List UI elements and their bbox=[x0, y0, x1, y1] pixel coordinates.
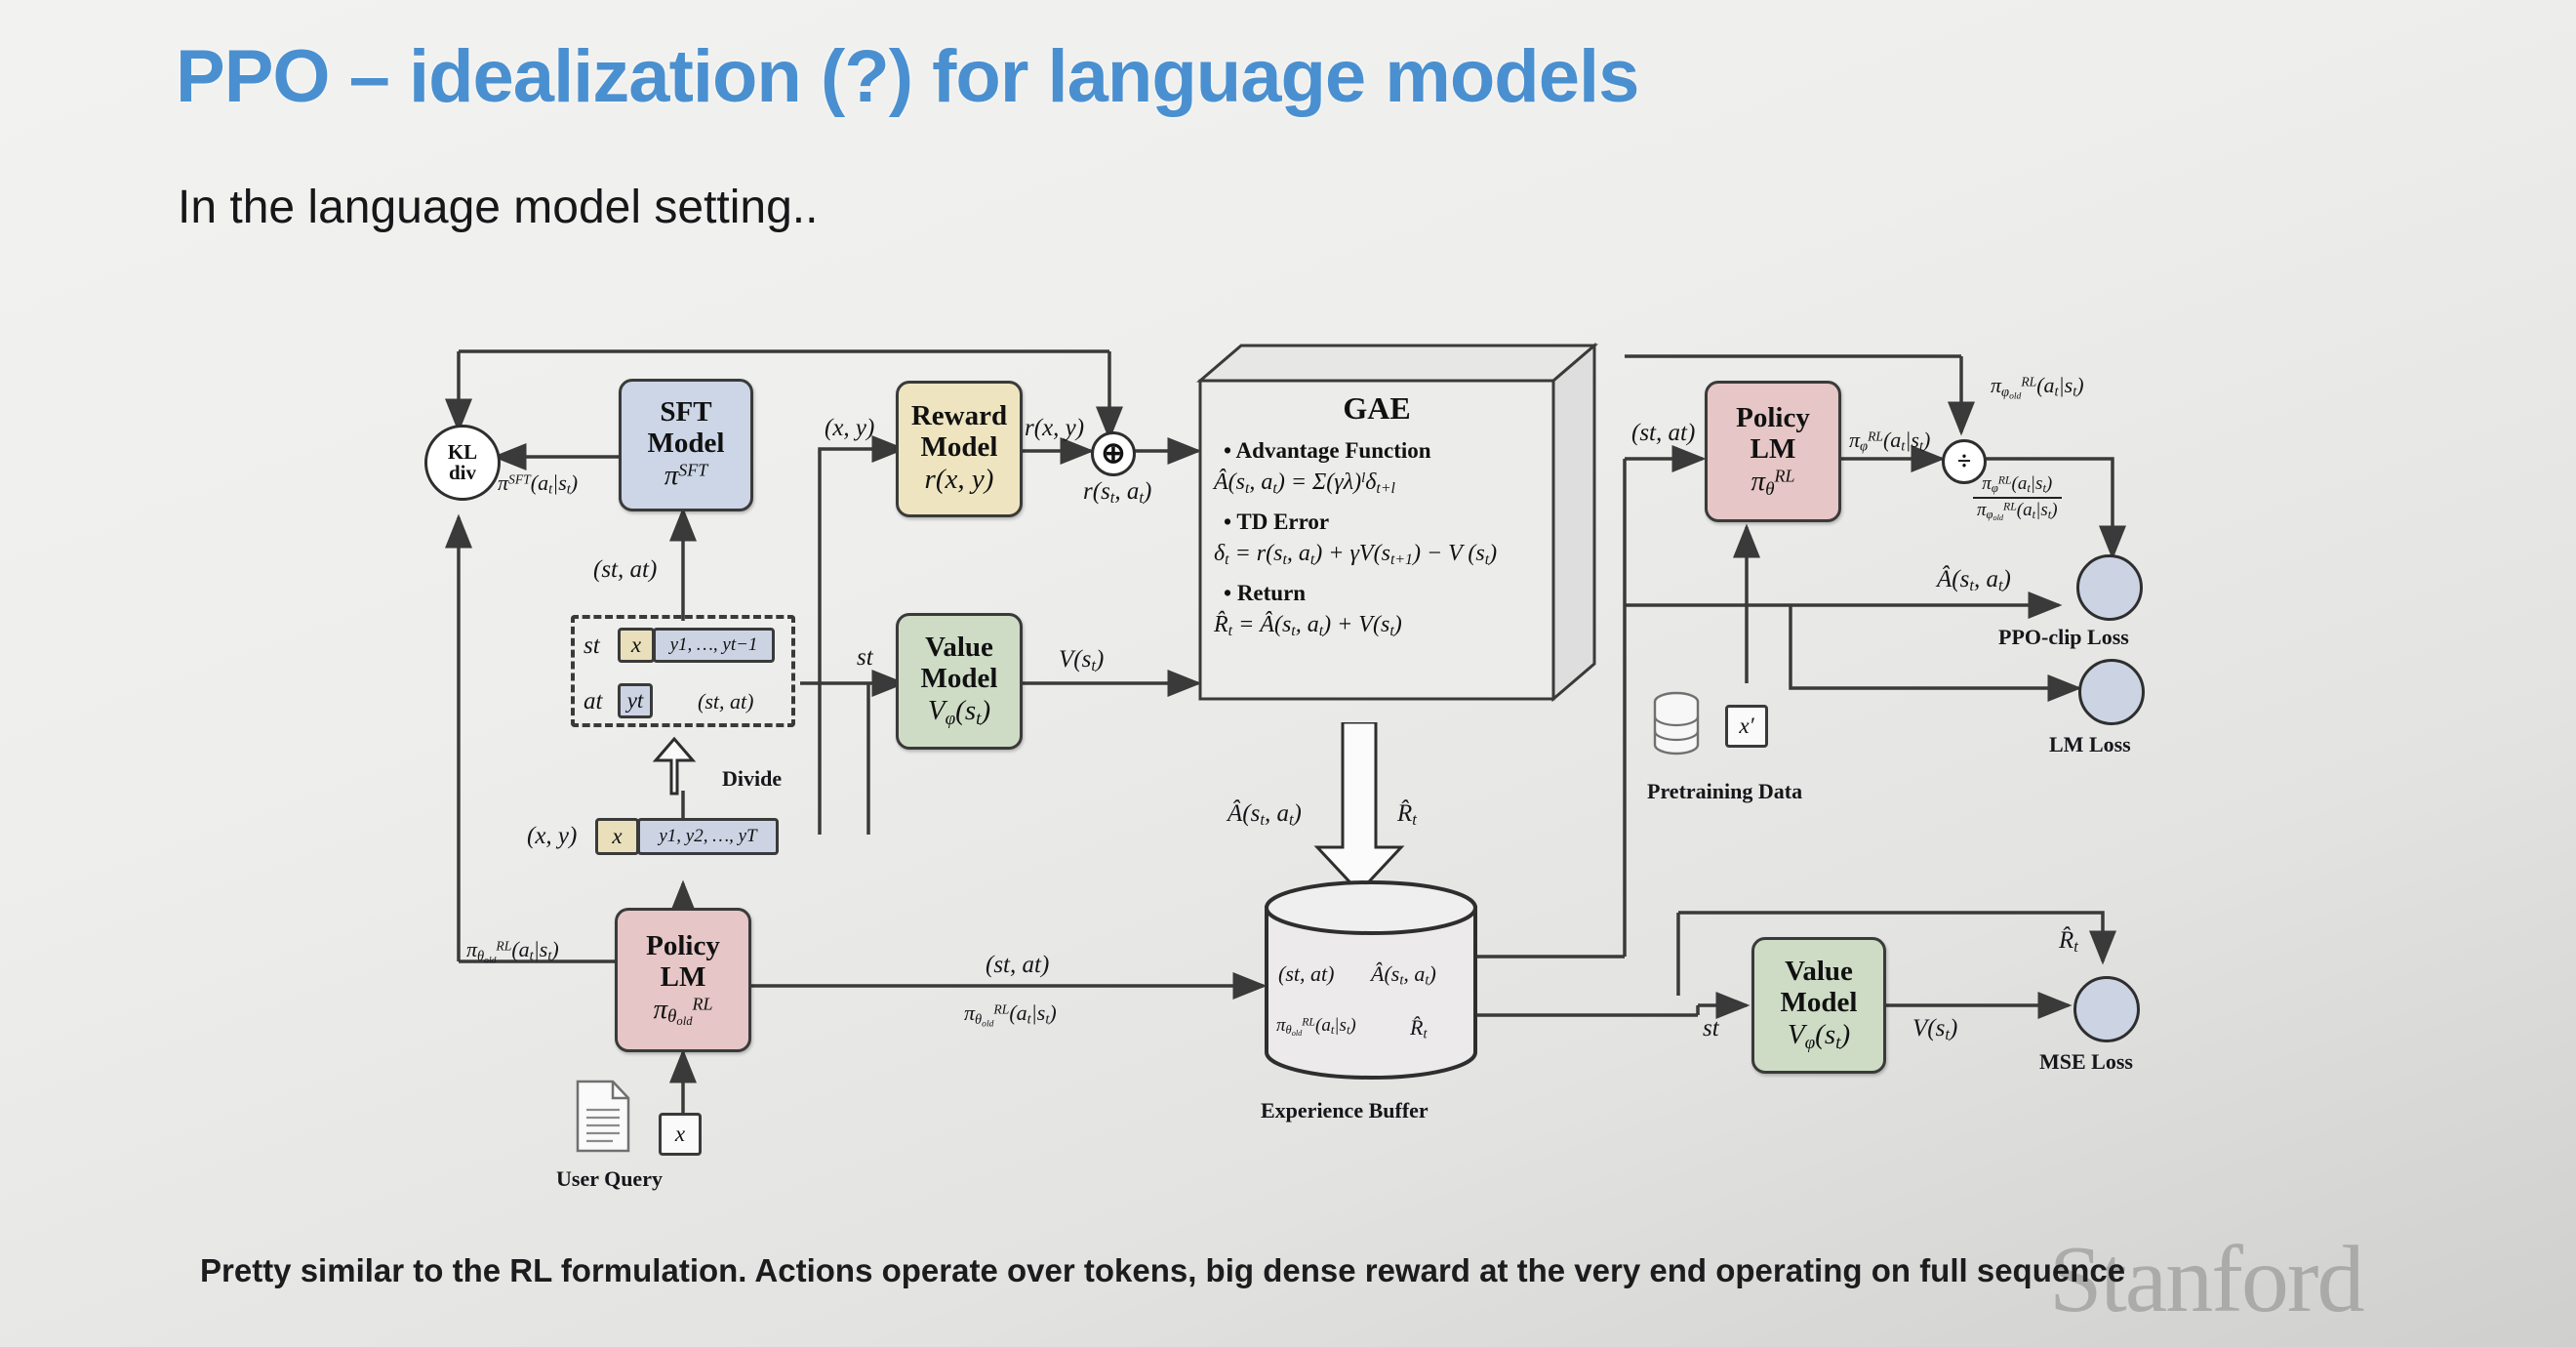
reward-model-line1: Reward bbox=[911, 401, 1007, 432]
mse-loss-circle[interactable] bbox=[2073, 976, 2140, 1042]
gae-bullet-3: • Return bbox=[1224, 581, 1553, 606]
state-action-pair-label: (st, at) bbox=[698, 689, 753, 714]
state-label: st bbox=[584, 633, 600, 660]
edge-label-buffer-in-pair: (st, at) bbox=[986, 952, 1049, 979]
value-model-bottom-symbol: Vφ(st) bbox=[1788, 1019, 1850, 1054]
policy-lm-top-symbol: πθRL bbox=[1751, 466, 1795, 501]
edge-label-policy-ratio: πφRL(at|st) πφoldRL(at|st) bbox=[1973, 473, 2062, 522]
advantage-out-label: Â(st, at) bbox=[1228, 800, 1302, 830]
experience-buffer-label: Experience Buffer bbox=[1261, 1098, 1429, 1123]
edge-label-state-to-value: st bbox=[857, 644, 873, 672]
sft-model-line1: SFT bbox=[660, 397, 711, 429]
node-value-model-top[interactable]: Value Model Vφ(st) bbox=[896, 613, 1023, 750]
ppo-clip-loss-label: PPO-clip Loss bbox=[1998, 625, 2129, 650]
edge-label-sum-out: r(st, at) bbox=[1083, 478, 1151, 508]
buffer-row1-advantage: Â(st, at) bbox=[1371, 961, 1436, 990]
edge-label-value-out: V(st) bbox=[1059, 646, 1104, 675]
divide-icon: ÷ bbox=[1957, 449, 1971, 474]
kl-div-circle[interactable]: KL div bbox=[424, 425, 501, 501]
sft-model-symbol: πSFT bbox=[664, 460, 708, 492]
sum-operator-circle: ⊕ bbox=[1091, 431, 1136, 476]
node-policy-lm-top[interactable]: Policy LM πθRL bbox=[1705, 381, 1841, 522]
reward-model-line2: Model bbox=[921, 432, 998, 464]
gae-header: GAE bbox=[1200, 390, 1553, 427]
full-pair-label: (x, y) bbox=[527, 823, 577, 850]
edge-label-value-out-bottom: V(st) bbox=[1912, 1015, 1957, 1044]
edge-label-state-action-to-sft: (st, at) bbox=[593, 556, 657, 584]
buffer-row1-pair: (st, at) bbox=[1278, 961, 1334, 987]
policy-lm-top-line1: Policy bbox=[1736, 403, 1810, 434]
return-out-label: R̂t bbox=[1397, 800, 1417, 830]
state-token-x: x bbox=[618, 628, 655, 663]
caption-text: Pretty similar to the RL formulation. Ac… bbox=[200, 1252, 2125, 1289]
diagram-canvas: SFT Model πSFT Reward Model r(x, y) Valu… bbox=[0, 0, 2576, 1347]
lm-loss-label: LM Loss bbox=[2049, 732, 2131, 757]
value-model-top-symbol: Vφ(st) bbox=[928, 695, 990, 730]
node-value-model-bottom[interactable]: Value Model Vφ(st) bbox=[1751, 937, 1886, 1074]
node-policy-lm-bottom[interactable]: Policy LM πθoldRL bbox=[615, 908, 751, 1052]
lm-loss-circle[interactable] bbox=[2078, 659, 2145, 725]
node-sft-model[interactable]: SFT Model πSFT bbox=[619, 379, 753, 511]
gae-equation-1: Â(st, at) = Σ(γλ)lδt+l bbox=[1214, 469, 1553, 498]
edge-label-old-policy-left: πθoldRL(at|st) bbox=[466, 937, 559, 965]
gae-bullet-2: • TD Error bbox=[1224, 510, 1553, 535]
divide-block-arrow-icon bbox=[642, 737, 710, 797]
node-reward-model[interactable]: Reward Model r(x, y) bbox=[896, 381, 1023, 517]
state-token-y: y1, …, yt−1 bbox=[653, 628, 775, 663]
buffer-row2-return: R̂t bbox=[1410, 1015, 1428, 1043]
mse-loss-label: MSE Loss bbox=[2039, 1049, 2133, 1075]
value-model-top-line2: Model bbox=[921, 664, 998, 695]
action-label: at bbox=[584, 688, 602, 715]
gae-equation-2: δt = r(st, at) + γV(st+1) − V (st) bbox=[1214, 541, 1553, 569]
slide-root: PPO – idealization (?) for language mode… bbox=[0, 0, 2576, 1347]
plus-icon: ⊕ bbox=[1101, 439, 1125, 469]
edge-label-reward-out: r(x, y) bbox=[1025, 415, 1084, 442]
edge-label-advantage-to-clip: Â(st, at) bbox=[1937, 566, 2011, 595]
gae-bullet-1: • Advantage Function bbox=[1224, 438, 1553, 464]
gae-equation-3: R̂t = Â(st, at) + V(st) bbox=[1214, 612, 1553, 640]
edge-label-buffer-in-prob: πθoldRL(at|st) bbox=[964, 1000, 1057, 1029]
edge-label-xy-to-reward: (x, y) bbox=[825, 415, 874, 442]
edge-label-st-at-to-policy: (st, at) bbox=[1631, 420, 1695, 447]
reward-model-symbol: r(x, y) bbox=[925, 464, 994, 496]
edge-label-policy-old-prob-top: πφoldRL(at|st) bbox=[1991, 373, 2084, 401]
pretraining-data-label: Pretraining Data bbox=[1647, 779, 1802, 804]
user-query-label: User Query bbox=[556, 1166, 663, 1192]
policy-lm-bottom-line1: Policy bbox=[646, 931, 720, 962]
divide-label: Divide bbox=[722, 766, 782, 792]
kl-div-line1: KL bbox=[448, 442, 477, 463]
full-token-x: x bbox=[595, 818, 639, 855]
policy-lm-bottom-symbol: πθoldRL bbox=[653, 994, 712, 1029]
action-token-y: yt bbox=[618, 683, 653, 718]
edge-label-policy-new-prob: πφRL(at|st) bbox=[1849, 428, 1930, 456]
kl-div-line2: div bbox=[449, 463, 476, 483]
value-model-top-line1: Value bbox=[925, 633, 993, 664]
value-model-bottom-line2: Model bbox=[1781, 988, 1858, 1019]
pretraining-token: x′ bbox=[1725, 705, 1768, 748]
buffer-row2-prob: πθoldRL(at|st) bbox=[1276, 1015, 1356, 1038]
gae-panel: GAE • Advantage Function Â(st, at) = Σ(γ… bbox=[1200, 381, 1553, 699]
ppo-clip-loss-circle[interactable] bbox=[2076, 554, 2143, 621]
edge-label-sft-policy: πSFT(at|st) bbox=[498, 470, 578, 499]
user-query-token: x bbox=[659, 1113, 702, 1156]
edge-label-st-to-value-bottom: st bbox=[1703, 1015, 1719, 1042]
database-icon bbox=[1649, 688, 1708, 764]
policy-lm-top-line2: LM bbox=[1751, 434, 1796, 466]
full-token-y: y1, y2, …, yT bbox=[637, 818, 779, 855]
value-model-bottom-line1: Value bbox=[1785, 957, 1853, 988]
sft-model-line2: Model bbox=[648, 429, 725, 460]
policy-lm-bottom-line2: LM bbox=[661, 962, 706, 994]
document-icon bbox=[574, 1079, 634, 1155]
edge-label-return-to-mse: R̂t bbox=[2059, 927, 2078, 957]
